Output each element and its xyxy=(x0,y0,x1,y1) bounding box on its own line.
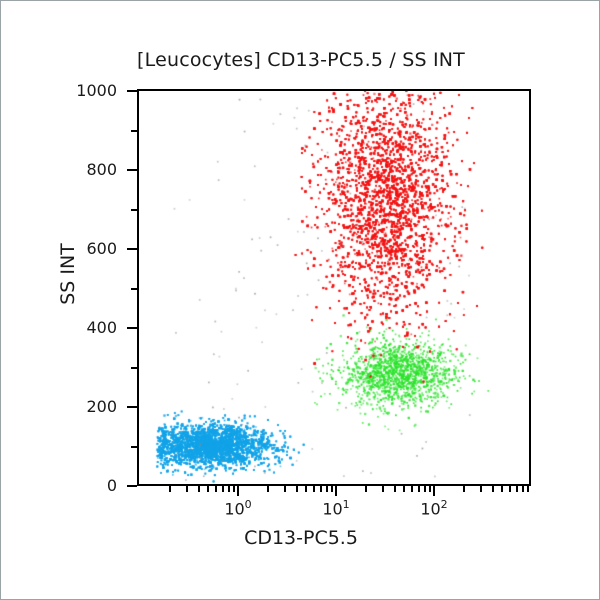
x-tick-minor xyxy=(424,486,426,492)
x-tick-minor xyxy=(382,486,384,492)
x-tick-major xyxy=(237,486,239,496)
x-tick-minor xyxy=(516,486,518,492)
x-tick-major xyxy=(433,486,435,496)
y-tick-major xyxy=(127,169,137,171)
y-tick-minor xyxy=(131,209,137,211)
x-tick-minor xyxy=(522,486,524,492)
x-tick-label: 102 xyxy=(404,498,464,518)
x-tick-minor xyxy=(463,486,465,492)
x-tick-minor xyxy=(233,486,235,492)
x-tick-minor xyxy=(169,486,171,492)
x-tick-minor xyxy=(313,486,315,492)
x-tick-label: 100 xyxy=(208,498,268,518)
x-tick-minor xyxy=(326,486,328,492)
x-tick-minor xyxy=(403,486,405,492)
x-tick-minor xyxy=(186,486,188,492)
x-tick-minor xyxy=(267,486,269,492)
x-tick-minor xyxy=(492,486,494,492)
x-tick-minor xyxy=(198,486,200,492)
scatter-canvas xyxy=(139,91,529,484)
x-tick-minor xyxy=(215,486,217,492)
y-tick-label: 1000 xyxy=(47,81,117,100)
x-axis-label: CD13-PC5.5 xyxy=(1,527,600,549)
x-tick-minor xyxy=(394,486,396,492)
y-tick-label: 0 xyxy=(47,476,117,495)
plot-area[interactable] xyxy=(137,89,531,486)
page-title: [Leucocytes] CD13-PC5.5 / SS INT xyxy=(1,49,600,71)
x-tick-minor xyxy=(365,486,367,492)
y-tick-minor xyxy=(131,446,137,448)
x-tick-minor xyxy=(480,486,482,492)
x-tick-minor xyxy=(222,486,224,492)
x-tick-minor xyxy=(320,486,322,492)
x-tick-minor xyxy=(429,486,431,492)
y-tick-minor xyxy=(131,367,137,369)
x-tick-minor xyxy=(296,486,298,492)
x-tick-minor xyxy=(228,486,230,492)
x-tick-minor xyxy=(284,486,286,492)
x-tick-minor xyxy=(509,486,511,492)
x-tick-minor xyxy=(207,486,209,492)
y-axis-label: SS INT xyxy=(57,199,79,349)
y-tick-label: 800 xyxy=(47,160,117,179)
y-tick-major xyxy=(127,248,137,250)
flow-cytometry-plot-page: [Leucocytes] CD13-PC5.5 / SS INT 0200400… xyxy=(0,0,600,600)
x-tick-minor xyxy=(411,486,413,492)
y-tick-major xyxy=(127,327,137,329)
x-tick-minor xyxy=(418,486,420,492)
y-tick-major xyxy=(127,485,137,487)
y-tick-major xyxy=(127,406,137,408)
x-tick-major xyxy=(335,486,337,496)
x-tick-minor xyxy=(501,486,503,492)
y-tick-minor xyxy=(131,130,137,132)
y-tick-minor xyxy=(131,288,137,290)
x-tick-minor xyxy=(305,486,307,492)
x-tick-minor xyxy=(527,486,529,492)
y-tick-major xyxy=(127,90,137,92)
y-tick-label: 200 xyxy=(47,397,117,416)
x-tick-label: 101 xyxy=(306,498,366,518)
x-tick-minor xyxy=(331,486,333,492)
